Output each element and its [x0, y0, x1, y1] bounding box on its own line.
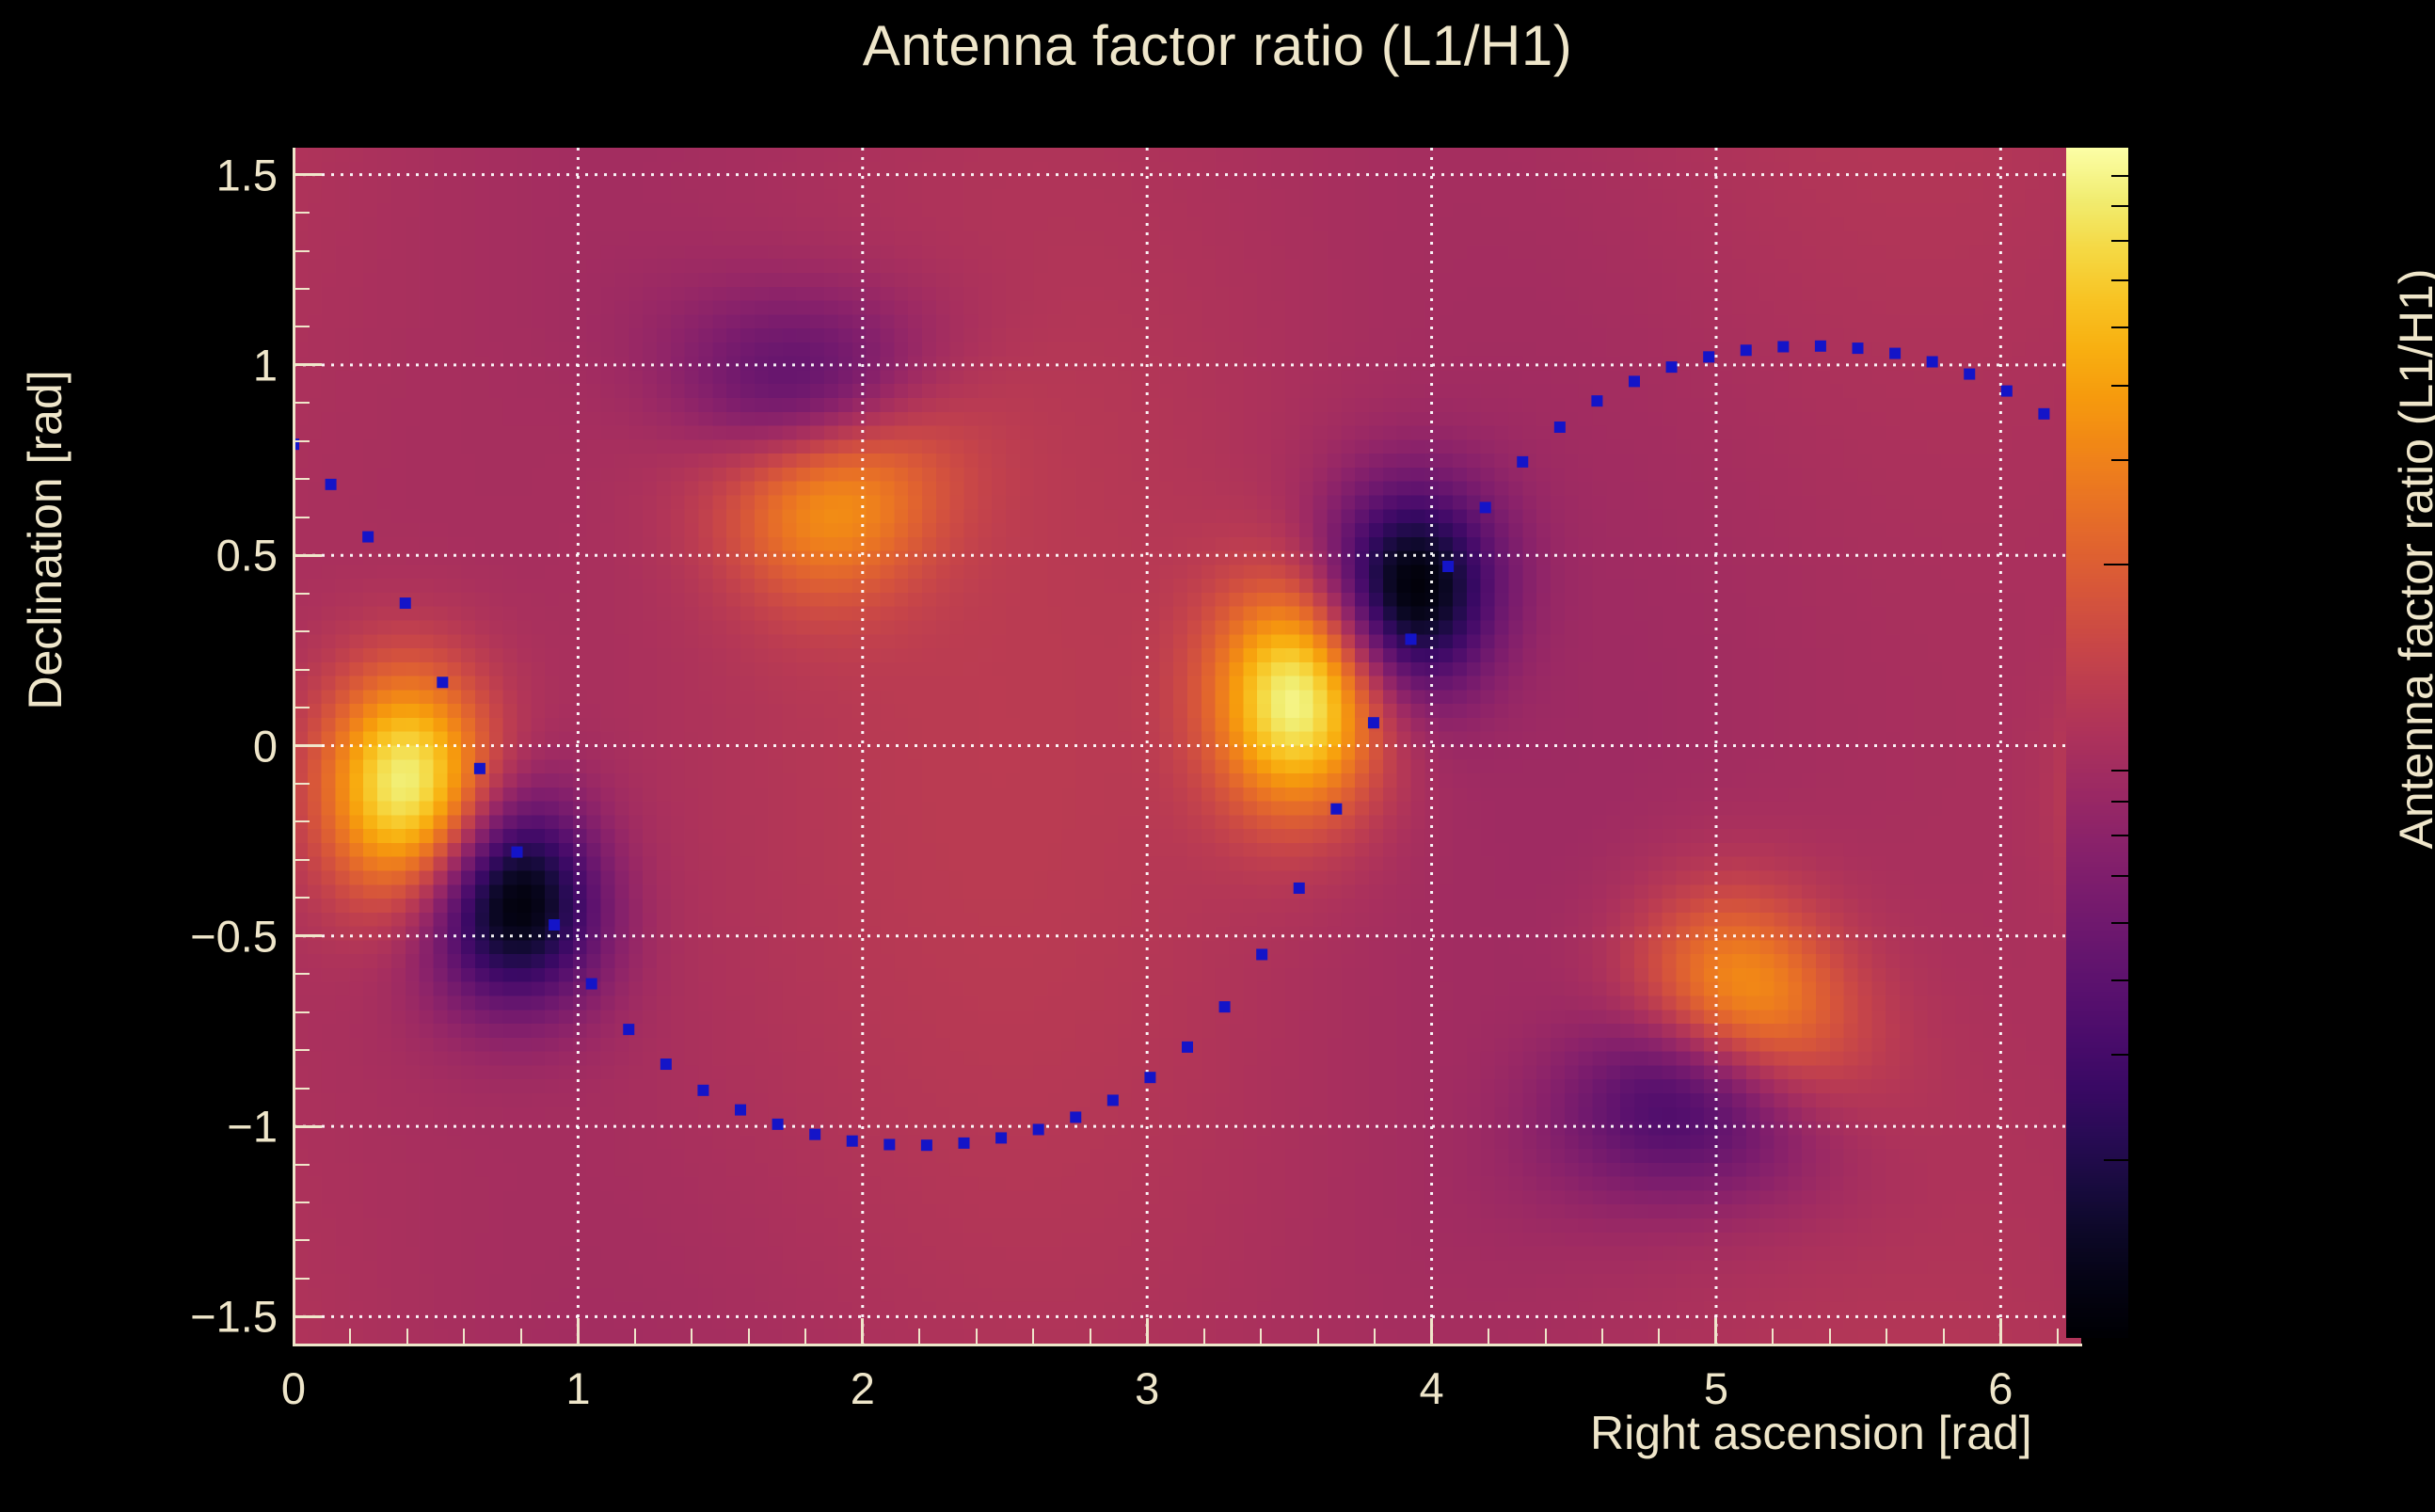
x-major-tick — [293, 1318, 295, 1346]
chart-canvas: Antenna factor ratio (L1/H1) 1.510.50−0.… — [0, 0, 2435, 1505]
y-minor-tick — [294, 288, 310, 290]
y-tick-label: 1.5 — [216, 149, 278, 200]
x-minor-tick — [1488, 1329, 1489, 1346]
y-minor-tick — [294, 973, 310, 975]
y-major-tick — [294, 173, 322, 176]
x-minor-tick — [634, 1329, 636, 1346]
x-tick-label: 1 — [565, 1362, 590, 1414]
heatmap-plot-area — [294, 148, 2081, 1344]
y-minor-tick — [294, 1049, 310, 1051]
x-minor-tick — [2057, 1329, 2059, 1346]
x-minor-tick — [748, 1329, 750, 1346]
x-minor-tick — [1032, 1329, 1034, 1346]
x-minor-tick — [1090, 1329, 1091, 1346]
y-minor-tick — [294, 1125, 310, 1127]
y-minor-tick — [294, 783, 310, 785]
x-minor-tick — [1317, 1329, 1319, 1346]
y-minor-tick — [294, 250, 310, 252]
y-tick-label: 0.5 — [216, 530, 278, 581]
x-minor-tick — [349, 1329, 351, 1346]
colorbar — [2066, 148, 2128, 1338]
y-minor-tick — [294, 1088, 310, 1090]
x-axis-line — [293, 1344, 2082, 1346]
y-tick-label: −1.5 — [190, 1291, 278, 1343]
x-minor-tick — [463, 1329, 465, 1346]
x-minor-tick — [406, 1329, 408, 1346]
x-tick-label: 2 — [851, 1362, 875, 1414]
x-minor-tick — [1943, 1329, 1945, 1346]
y-minor-tick — [294, 859, 310, 861]
y-minor-tick — [294, 669, 310, 671]
x-minor-tick — [976, 1329, 978, 1346]
x-minor-tick — [691, 1329, 692, 1346]
y-tick-label: −0.5 — [190, 910, 278, 962]
y-minor-tick — [294, 212, 310, 214]
y-minor-tick — [294, 1164, 310, 1166]
x-minor-tick — [1829, 1329, 1831, 1346]
y-minor-tick — [294, 630, 310, 632]
x-minor-tick — [1260, 1329, 1262, 1346]
y-minor-tick — [294, 478, 310, 480]
x-major-tick — [1999, 1318, 2002, 1346]
y-minor-tick — [294, 935, 310, 937]
y-major-tick — [294, 744, 322, 747]
x-major-tick — [1146, 1318, 1149, 1346]
y-minor-tick — [294, 517, 310, 518]
y-tick-label: 0 — [253, 720, 278, 772]
y-minor-tick — [294, 1202, 310, 1203]
y-minor-tick — [294, 402, 310, 404]
x-axis-tick-labels: 0123456 — [0, 1362, 2435, 1428]
y-minor-tick — [294, 820, 310, 822]
y-axis-title: Declination [rad] — [18, 248, 72, 832]
x-minor-tick — [1545, 1329, 1547, 1346]
y-minor-tick — [294, 593, 310, 595]
y-minor-tick — [294, 326, 310, 327]
x-minor-tick — [804, 1329, 806, 1346]
y-axis-tick-labels: 1.510.50−0.5−1−1.5 — [103, 0, 278, 1505]
x-minor-tick — [1886, 1329, 1887, 1346]
y-minor-tick — [294, 1011, 310, 1013]
x-minor-tick — [1658, 1329, 1660, 1346]
x-minor-tick — [520, 1329, 522, 1346]
y-major-tick — [294, 554, 322, 557]
y-minor-tick — [294, 1239, 310, 1241]
x-minor-tick — [1772, 1329, 1774, 1346]
y-minor-tick — [294, 440, 310, 442]
y-major-tick — [294, 1315, 322, 1318]
colorbar-gradient — [2066, 148, 2128, 1338]
x-axis-title: Right ascension [rad] — [1590, 1406, 2032, 1460]
heatmap-image — [294, 148, 2081, 1344]
y-minor-tick — [294, 707, 310, 708]
x-minor-tick — [1203, 1329, 1205, 1346]
x-tick-label: 3 — [1135, 1362, 1159, 1414]
y-minor-tick — [294, 1278, 310, 1280]
y-tick-label: 1 — [253, 339, 278, 390]
colorbar-title: Antenna factor ratio (L1/H1) — [2389, 145, 2435, 973]
x-tick-label: 4 — [1419, 1362, 1443, 1414]
y-minor-tick — [294, 897, 310, 899]
x-minor-tick — [918, 1329, 920, 1346]
chart-title: Antenna factor ratio (L1/H1) — [0, 13, 2435, 78]
x-minor-tick — [1601, 1329, 1603, 1346]
y-major-tick — [294, 363, 322, 366]
x-minor-tick — [1374, 1329, 1376, 1346]
x-tick-label: 0 — [281, 1362, 306, 1414]
x-major-tick — [1430, 1318, 1433, 1346]
x-major-tick — [577, 1318, 580, 1346]
y-tick-label: −1 — [227, 1101, 278, 1153]
x-minor-tick — [862, 1329, 864, 1346]
x-major-tick — [1714, 1318, 1717, 1346]
